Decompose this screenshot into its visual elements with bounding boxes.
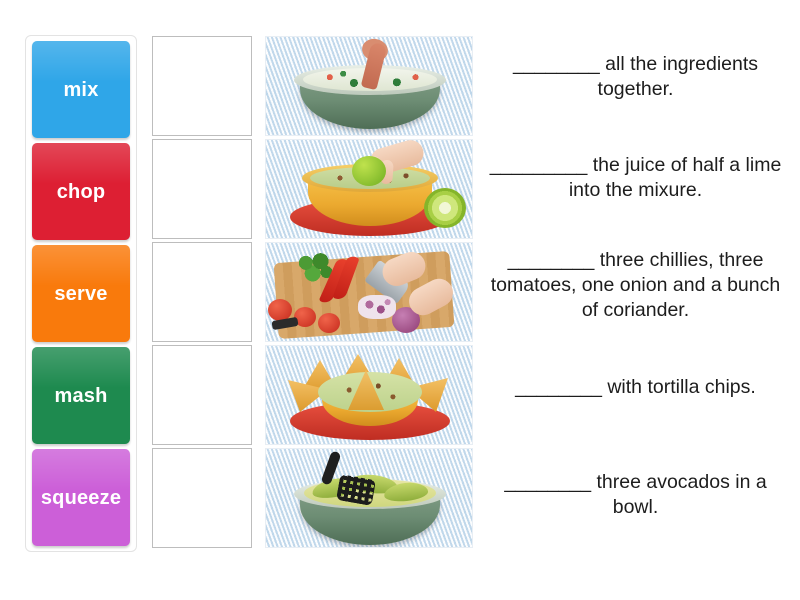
word-tile-label: mash [52,385,109,407]
sentence-3: ________ three chillies, three tomatoes,… [483,242,792,323]
word-tile-label: mix [61,79,100,101]
drop-zone-4[interactable] [152,345,252,445]
row-image-mash [265,448,473,548]
sentence-1: ________ all the ingredients together. [483,36,792,102]
drop-zone-2[interactable] [152,139,252,239]
row-image-mix [265,36,473,136]
word-tile-label: serve [52,283,109,305]
match-row: _________ the juice of half a lime into … [152,139,792,239]
word-tile-serve[interactable]: serve [32,245,130,342]
word-tile-chop[interactable]: chop [32,143,130,240]
word-tile-squeeze[interactable]: squeeze [32,449,130,546]
activity-canvas: mix chop serve mash squeeze _ [0,0,800,600]
word-tile-column: mix chop serve mash squeeze [25,35,137,552]
word-tile-mash[interactable]: mash [32,347,130,444]
drop-zone-3[interactable] [152,242,252,342]
match-row: ________ with tortilla chips. [152,345,792,445]
lime-half [424,188,466,228]
word-tile-label: chop [55,181,108,203]
sentence-4: ________ with tortilla chips. [483,345,792,400]
word-tile-label: squeeze [39,487,123,509]
sentence-5: ________ three avocados in a bowl. [483,448,792,520]
tomato [318,313,340,333]
match-row: ________ three avocados in a bowl. [152,448,792,548]
chopped-onion-pile [358,295,396,319]
sentence-2: _________ the juice of half a lime into … [483,139,792,203]
match-rows: ________ all the ingredients together. _… [152,36,792,551]
row-image-chop [265,242,473,342]
match-row: ________ all the ingredients together. [152,36,792,136]
drop-zone-5[interactable] [152,448,252,548]
row-image-squeeze-lime [265,139,473,239]
match-row: ________ three chillies, three tomatoes,… [152,242,792,342]
whole-lime [352,156,386,186]
drop-zone-1[interactable] [152,36,252,136]
row-image-serve [265,345,473,445]
word-tile-mix[interactable]: mix [32,41,130,138]
